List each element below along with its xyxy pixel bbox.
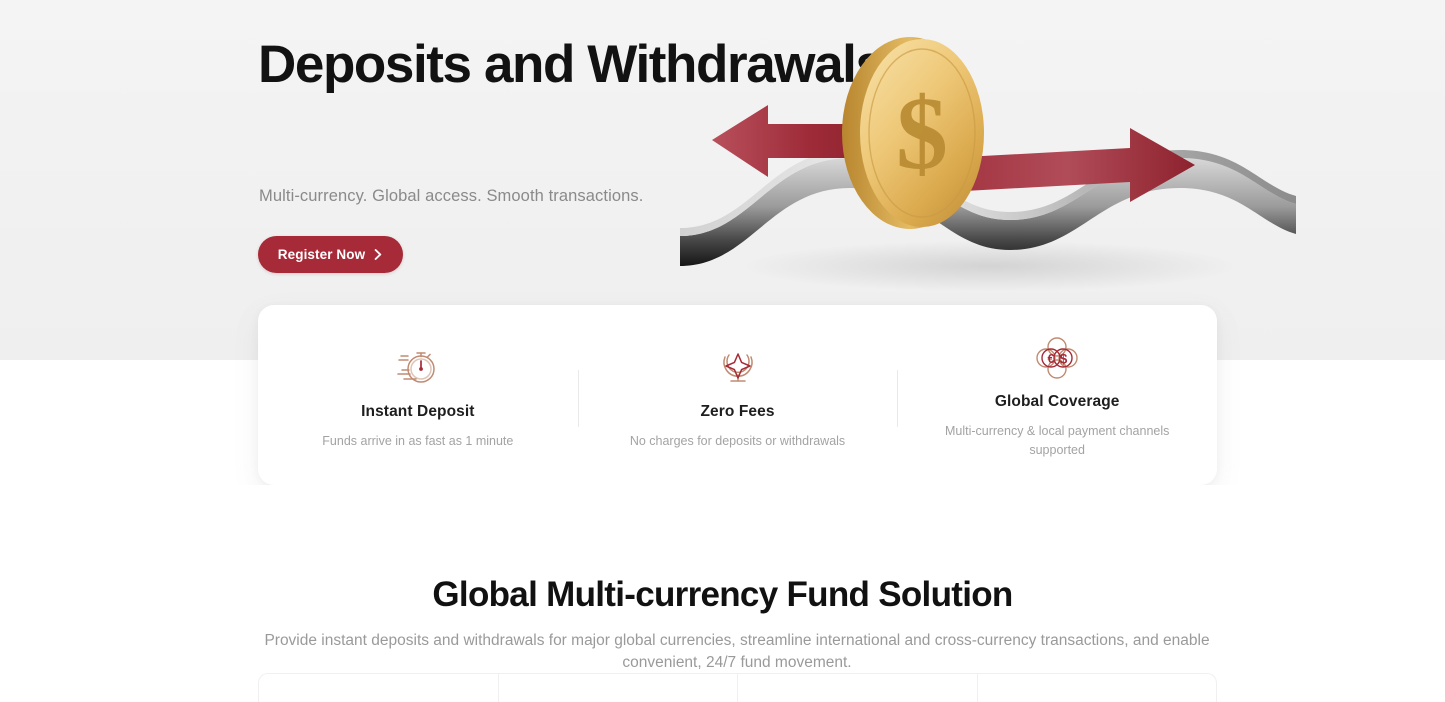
- feature-instant-deposit: Instant Deposit Funds arrive in as fast …: [258, 305, 578, 485]
- currency-card[interactable]: [259, 674, 498, 702]
- feature-title: Instant Deposit: [361, 403, 474, 421]
- feature-global-coverage: € $ Global Coverage Multi-currency & loc…: [897, 305, 1217, 485]
- feature-list: Instant Deposit Funds arrive in as fast …: [258, 305, 1217, 485]
- feature-card: Instant Deposit Funds arrive in as fast …: [258, 305, 1217, 485]
- section-title: Global Multi-currency Fund Solution: [0, 575, 1445, 615]
- currency-card-grid: [258, 673, 1217, 702]
- page-root: Deposits and Withdrawals Multi-currency.…: [0, 0, 1445, 702]
- register-now-button[interactable]: Register Now: [258, 236, 403, 273]
- currency-card[interactable]: [977, 674, 1217, 702]
- hero-subtitle: Multi-currency. Global access. Smooth tr…: [259, 187, 643, 206]
- svg-text:$: $: [1060, 352, 1068, 367]
- feature-title: Zero Fees: [700, 403, 774, 421]
- currency-card[interactable]: [737, 674, 977, 702]
- chevron-right-icon: [374, 249, 383, 260]
- hero-title: Deposits and Withdrawals: [258, 34, 918, 95]
- stopwatch-icon: [395, 343, 441, 389]
- feature-zero-fees: Zero Fees No charges for deposits or wit…: [578, 305, 898, 485]
- feature-description: No charges for deposits or withdrawals: [630, 432, 845, 451]
- svg-text:€: €: [1048, 352, 1055, 366]
- feature-description: Funds arrive in as fast as 1 minute: [322, 432, 513, 451]
- feature-description: Multi-currency & local payment channels …: [937, 422, 1177, 461]
- feature-title: Global Coverage: [995, 393, 1120, 411]
- diamond-stand-icon: [715, 343, 761, 389]
- solution-section: Global Multi-currency Fund Solution Prov…: [0, 485, 1445, 702]
- euro-dollar-coins-icon: € $: [1034, 335, 1080, 381]
- section-subtitle: Provide instant deposits and withdrawals…: [242, 630, 1232, 675]
- currency-card[interactable]: [498, 674, 738, 702]
- register-now-label: Register Now: [278, 247, 365, 262]
